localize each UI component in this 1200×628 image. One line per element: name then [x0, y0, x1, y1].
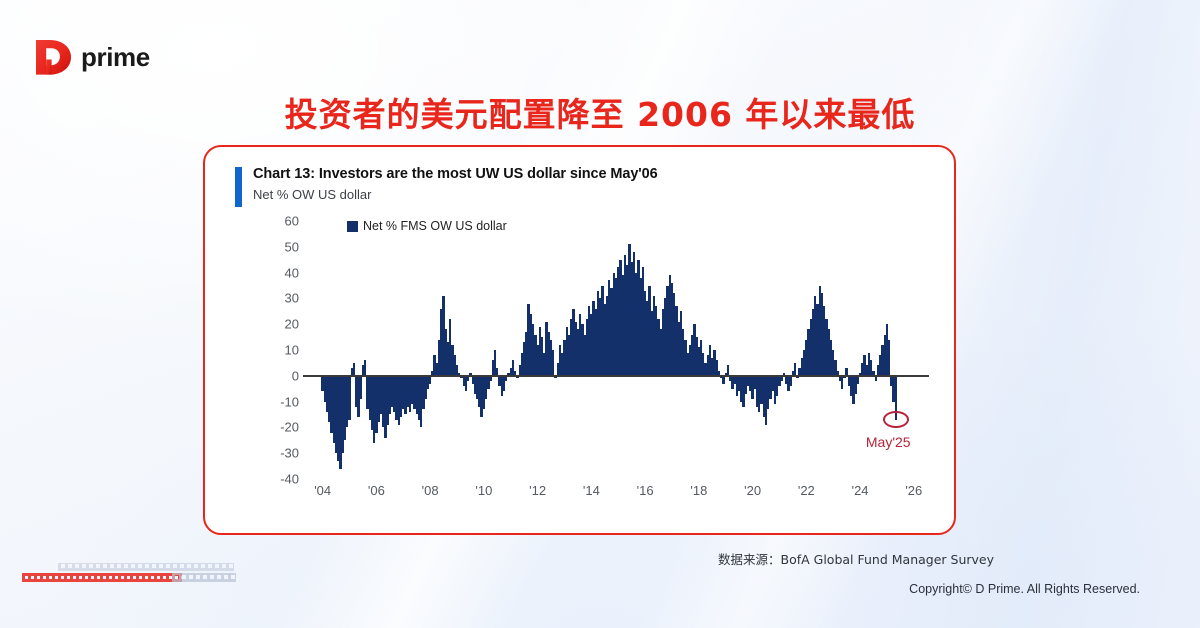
annotation-ellipse-icon — [883, 411, 909, 428]
chart-card: Chart 13: Investors are the most UW US d… — [203, 145, 956, 535]
plot-area: Net % FMS OW US dollar 6050403020100-10-… — [235, 219, 934, 519]
x-tick-label: '24 — [852, 483, 869, 498]
x-tick-label: '12 — [529, 483, 546, 498]
x-axis-labels: '04'06'08'10'12'14'16'18'20'22'24'26 — [307, 483, 925, 507]
x-tick-label: '10 — [475, 483, 492, 498]
accent-bar — [235, 167, 242, 207]
y-tick-label: -40 — [280, 472, 299, 487]
y-tick-label: -30 — [280, 446, 299, 461]
y-tick-label: 30 — [285, 291, 299, 306]
bar — [722, 376, 724, 384]
y-tick-label: 40 — [285, 265, 299, 280]
bar — [552, 350, 554, 376]
legend-swatch-icon — [347, 221, 358, 232]
bar — [781, 376, 783, 381]
page-title: 投资者的美元配置降至 2006 年以来最低 — [0, 88, 1200, 136]
x-tick-label: '14 — [583, 483, 600, 498]
deco-dots-red — [22, 573, 182, 582]
bar — [888, 340, 890, 376]
bar — [489, 376, 491, 381]
x-tick-label: '16 — [637, 483, 654, 498]
bar — [789, 376, 791, 386]
bar — [875, 376, 877, 381]
bar — [505, 376, 507, 381]
y-tick-label: 20 — [285, 317, 299, 332]
x-tick-label: '08 — [422, 483, 439, 498]
y-tick-label: 60 — [285, 214, 299, 229]
y-tick-label: 50 — [285, 239, 299, 254]
x-tick-label: '04 — [314, 483, 331, 498]
y-tick-label: -20 — [280, 420, 299, 435]
deco-dots-grey-top — [58, 563, 234, 571]
y-tick-label: -10 — [280, 394, 299, 409]
bar — [364, 360, 366, 375]
deco-dots-grey-bottom — [172, 573, 236, 582]
bar — [360, 376, 362, 399]
chart-legend: Net % FMS OW US dollar — [347, 219, 507, 233]
y-tick-label: 0 — [292, 368, 299, 383]
bar — [348, 376, 350, 420]
bar — [429, 376, 431, 384]
zero-axis-line — [303, 375, 929, 377]
bar — [794, 363, 796, 376]
brand-logo: prime — [33, 36, 150, 78]
bar — [857, 376, 859, 384]
copyright-note: Copyright© D Prime. All Rights Reserved. — [909, 582, 1140, 596]
bar-chart: May'25 — [307, 221, 925, 479]
bar — [467, 376, 469, 381]
bar-series — [307, 221, 925, 479]
chart-header: Chart 13: Investors are the most UW US d… — [235, 165, 934, 207]
y-tick-label: 10 — [285, 343, 299, 358]
chart-title: Chart 13: Investors are the most UW US d… — [253, 165, 658, 185]
logo-wordmark: prime — [81, 44, 150, 70]
chart-subtitle: Net % OW US dollar — [253, 186, 658, 204]
data-source-note: 数据来源：BofA Global Fund Manager Survey — [718, 549, 994, 568]
bar — [353, 363, 355, 376]
d-prime-logo-icon — [33, 36, 73, 78]
x-tick-label: '26 — [905, 483, 922, 498]
x-tick-label: '22 — [798, 483, 815, 498]
decorative-dot-strip — [22, 562, 236, 592]
x-tick-label: '06 — [368, 483, 385, 498]
y-axis-labels: 6050403020100-10-20-30-40 — [265, 221, 299, 479]
legend-label: Net % FMS OW US dollar — [363, 219, 507, 233]
x-tick-label: '18 — [690, 483, 707, 498]
annotation-label: May'25 — [866, 434, 911, 450]
x-tick-label: '20 — [744, 483, 761, 498]
